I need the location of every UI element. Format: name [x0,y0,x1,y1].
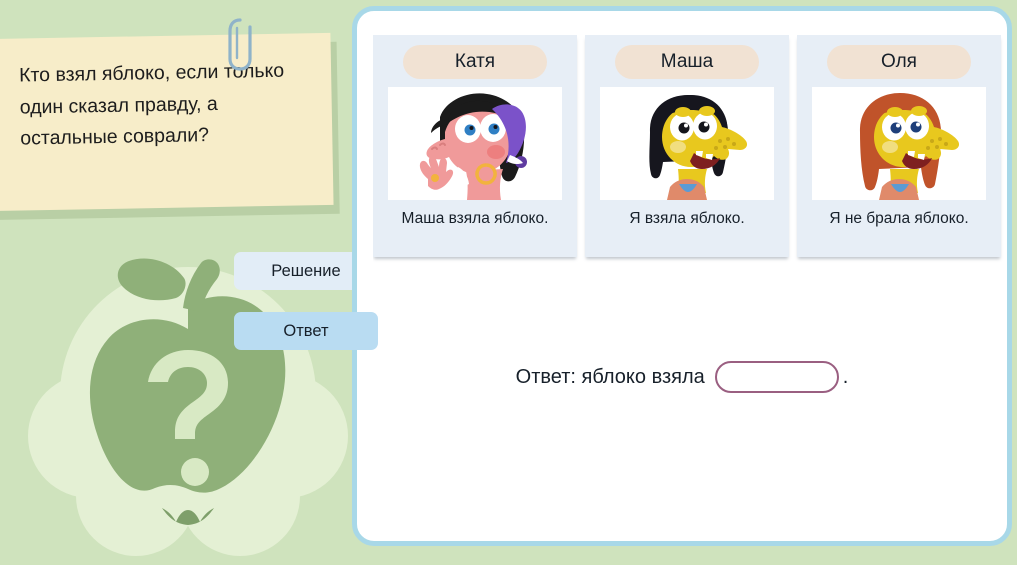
masha-dino-portrait-icon [600,87,774,200]
question-note-card: Кто взял яблоко, если только один сказал… [0,33,334,211]
paperclip-icon [220,14,260,76]
character-card-masha: Маша [585,35,789,257]
character-name-olya: Оля [827,45,971,79]
character-caption-masha: Я взяла яблоко. [592,208,782,230]
character-card-katya: Катя [373,35,577,257]
olya-dino-portrait-icon [812,87,986,200]
answer-row: Ответ: яблоко взяла . [357,361,1007,393]
answer-suffix-label: . [843,366,849,389]
character-caption-olya: Я не брала яблоко. [804,208,994,230]
katya-dino-portrait-icon [388,87,562,200]
character-card-olya: Оля [797,35,1001,257]
tab-solution-label: Решение [271,262,340,281]
tab-answer[interactable]: Ответ [234,312,378,350]
character-cards-strip[interactable]: Катя [373,35,1009,267]
answer-prefix-label: Ответ: яблоко взяла [516,366,705,389]
character-name-katya: Катя [403,45,547,79]
tab-answer-label: Ответ [283,322,328,341]
character-caption-katya: Маша взяла яблоко. [380,208,570,230]
main-content-panel: Катя [352,6,1012,546]
answer-input[interactable] [715,361,839,393]
character-name-masha: Маша [615,45,759,79]
